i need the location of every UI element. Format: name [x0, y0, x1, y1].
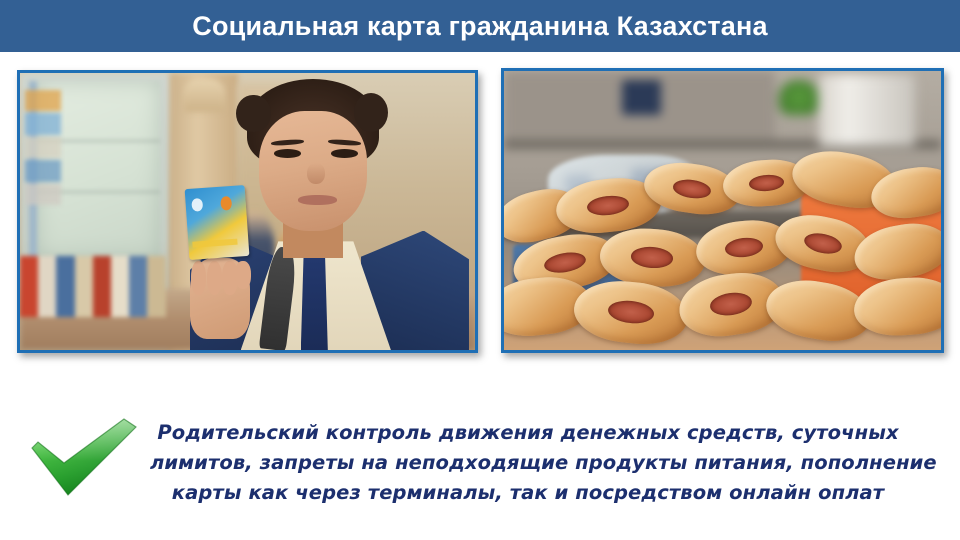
slide-header-bar: Социальная карта гражданина Казахстана	[0, 0, 960, 52]
green-check-svg	[24, 415, 144, 500]
caption-line-2: лимитов, запреты на неподходящие продукт…	[150, 448, 906, 478]
sausage-rolls-pile	[504, 160, 941, 350]
eye-left	[274, 149, 301, 158]
schoolboy-with-card-photo	[17, 70, 478, 353]
eye-right	[331, 149, 358, 158]
caption-line-1: Родительский контроль движения денежных …	[150, 418, 906, 448]
sausage-rolls-photo-content	[504, 71, 941, 350]
hand-holding-card	[190, 258, 250, 339]
sausage-rolls-photo	[501, 68, 944, 353]
card-logo	[191, 198, 203, 211]
schoolboy-photo-content	[20, 73, 475, 350]
card-stripe	[192, 239, 238, 249]
canteen-plant	[779, 80, 818, 114]
card-chip	[220, 196, 232, 211]
mouth	[298, 195, 337, 205]
social-card	[184, 185, 249, 260]
caption-line-3: карты как через терминалы, так и посредс…	[150, 478, 906, 508]
bullet-caption: Родительский контроль движения денежных …	[150, 418, 906, 508]
schoolboy-figure	[175, 79, 475, 350]
presentation-slide: Социальная карта гражданина Казахстана	[0, 0, 960, 540]
necktie	[301, 258, 328, 350]
slide-title: Социальная карта гражданина Казахстана	[192, 11, 767, 42]
nose	[307, 163, 325, 185]
canteen-pot	[819, 74, 915, 146]
green-check-icon	[24, 415, 144, 500]
hall-posters	[25, 90, 61, 245]
hall-lockers	[20, 256, 166, 317]
